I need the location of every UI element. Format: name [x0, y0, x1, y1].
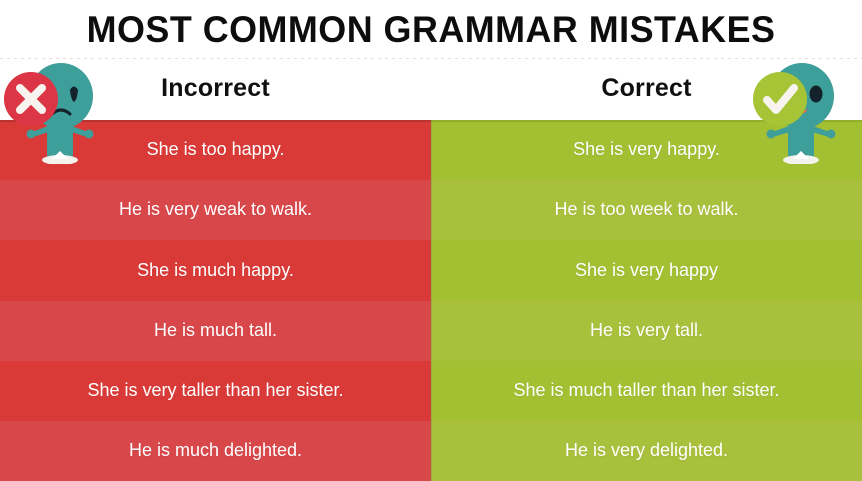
table-cell-text: She is much taller than her sister. [513, 380, 779, 402]
column-header-band: Incorrect Correct [0, 59, 862, 120]
table-cell-correct: She is very happy. [431, 120, 862, 180]
table-row: He is much delighted. He is very delight… [0, 421, 862, 481]
table-cell-incorrect: He is very weak to walk. [0, 180, 431, 240]
table-cell-correct: She is much taller than her sister. [431, 361, 862, 421]
table-cell-incorrect: She is very taller than her sister. [0, 361, 431, 421]
table-cell-text: He is much tall. [154, 320, 277, 342]
column-header-correct: Correct [431, 59, 862, 120]
table-cell-text: He is very weak to walk. [119, 199, 312, 221]
table-cell-text: She is much happy. [137, 260, 294, 282]
table-cell-text: She is very taller than her sister. [87, 380, 343, 402]
title-bar: MOST COMMON GRAMMAR MISTAKES [0, 0, 862, 58]
table-cell-correct: He is very tall. [431, 301, 862, 361]
table-cell-text: He is very delighted. [565, 440, 728, 462]
page-title: MOST COMMON GRAMMAR MISTAKES [87, 11, 776, 48]
table-row: He is very weak to walk. He is too week … [0, 180, 862, 240]
table-row: She is very taller than her sister. She … [0, 361, 862, 421]
table-cell-text: She is very happy [575, 260, 718, 282]
table-cell-text: She is too happy. [147, 139, 285, 161]
table-cell-correct: He is too week to walk. [431, 180, 862, 240]
infographic-page: MOST COMMON GRAMMAR MISTAKES Incorrect C… [0, 0, 862, 481]
table-cell-correct: He is very delighted. [431, 421, 862, 481]
column-header-incorrect: Incorrect [0, 59, 431, 120]
table-row: She is much happy. She is very happy [0, 240, 862, 300]
table-row: She is too happy. She is very happy. [0, 120, 862, 180]
table-row: He is much tall. He is very tall. [0, 301, 862, 361]
column-header-correct-label: Correct [601, 74, 691, 103]
table-cell-correct: She is very happy [431, 240, 862, 300]
comparison-table: She is too happy. She is very happy. He … [0, 120, 862, 481]
table-cell-text: He is much delighted. [129, 440, 302, 462]
column-header-incorrect-label: Incorrect [161, 74, 270, 103]
table-cell-incorrect: She is too happy. [0, 120, 431, 180]
table-cell-text: He is too week to walk. [554, 199, 738, 221]
table-cell-incorrect: He is much tall. [0, 301, 431, 361]
table-cell-text: She is very happy. [573, 139, 720, 161]
table-cell-incorrect: He is much delighted. [0, 421, 431, 481]
table-cell-text: He is very tall. [590, 320, 703, 342]
table-cell-incorrect: She is much happy. [0, 240, 431, 300]
